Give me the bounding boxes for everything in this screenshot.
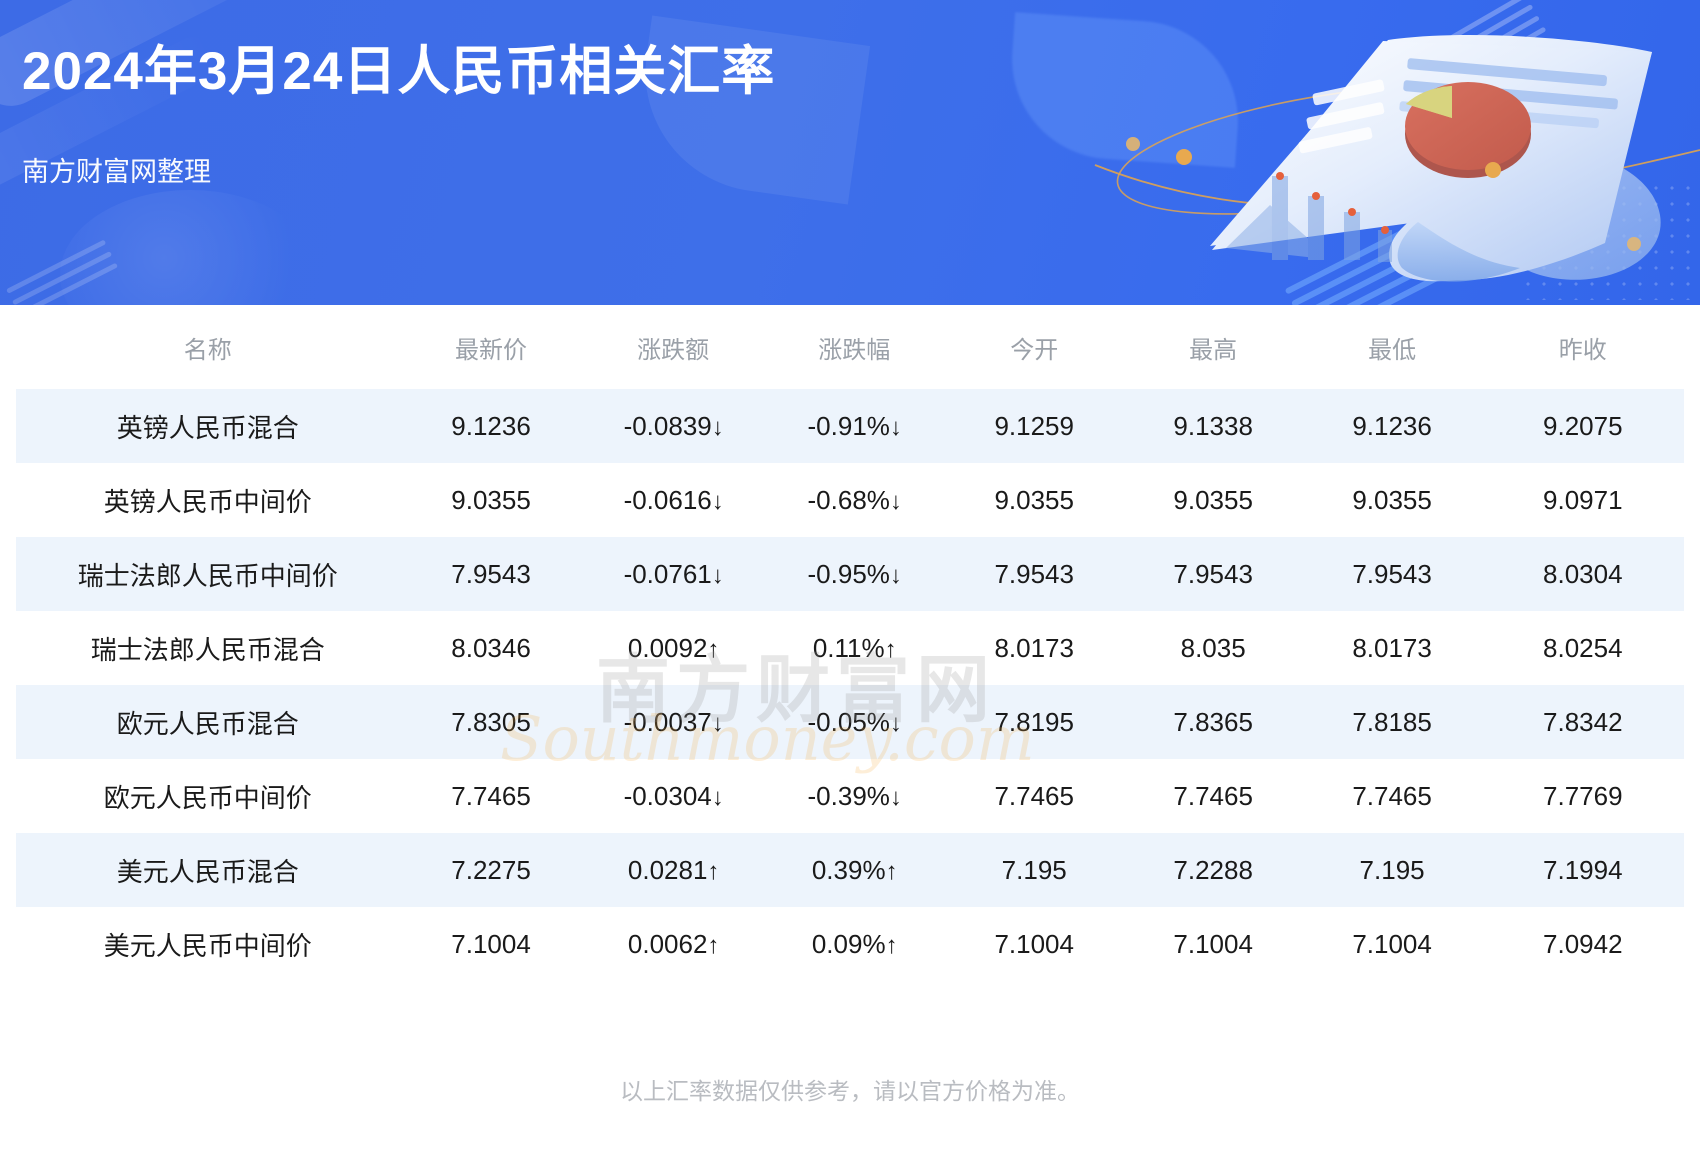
cell-change-percent: 0.09%↑	[764, 907, 945, 981]
cell-prev-close: 7.1994	[1482, 833, 1684, 907]
column-header-change[interactable]: 涨跌额	[583, 305, 764, 389]
cell-name: 美元人民币中间价	[16, 907, 399, 981]
cell-name: 瑞士法郎人民币中间价	[16, 537, 399, 611]
cell-high: 9.0355	[1124, 463, 1303, 537]
cell-high: 7.9543	[1124, 537, 1303, 611]
arrow-down-icon: ↓	[712, 488, 723, 515]
cell-open: 9.1259	[945, 389, 1124, 463]
column-header-prev-close[interactable]: 昨收	[1482, 305, 1684, 389]
page-subtitle: 南方财富网整理	[22, 150, 211, 189]
cell-open: 7.8195	[945, 685, 1124, 759]
cell-change: -0.0616↓	[583, 463, 764, 537]
cell-name: 英镑人民币混合	[16, 389, 399, 463]
table-header-row: 名称 最新价 涨跌额 涨跌幅 今开 最高 最低 昨收	[16, 305, 1684, 389]
cell-low: 7.7465	[1303, 759, 1482, 833]
cell-change: -0.0761↓	[583, 537, 764, 611]
cell-last-price: 8.0346	[399, 611, 582, 685]
table-row[interactable]: 瑞士法郎人民币中间价7.9543-0.0761↓-0.95%↓7.95437.9…	[16, 537, 1684, 611]
cell-change: 0.0092↑	[583, 611, 764, 685]
arrow-down-icon: ↓	[712, 562, 723, 589]
column-header-last-price[interactable]: 最新价	[399, 305, 582, 389]
cell-prev-close: 9.0971	[1482, 463, 1684, 537]
cell-high: 8.035	[1124, 611, 1303, 685]
cell-change-percent: -0.91%↓	[764, 389, 945, 463]
cell-change: 0.0281↑	[583, 833, 764, 907]
table-row[interactable]: 英镑人民币中间价9.0355-0.0616↓-0.68%↓9.03559.035…	[16, 463, 1684, 537]
cell-low: 7.9543	[1303, 537, 1482, 611]
cell-low: 7.1004	[1303, 907, 1482, 981]
exchange-rate-table-wrapper: 名称 最新价 涨跌额 涨跌幅 今开 最高 最低 昨收 英镑人民币混合9.1236…	[0, 305, 1700, 981]
cell-high: 7.2288	[1124, 833, 1303, 907]
report-document-chart-illustration	[1000, 0, 1700, 305]
cell-last-price: 7.2275	[399, 833, 582, 907]
cell-last-price: 7.7465	[399, 759, 582, 833]
cell-last-price: 9.1236	[399, 389, 582, 463]
column-header-open[interactable]: 今开	[945, 305, 1124, 389]
arrow-down-icon: ↓	[890, 784, 901, 811]
page-title: 2024年3月24日人民币相关汇率	[22, 42, 775, 103]
arrow-up-icon: ↑	[886, 858, 897, 885]
decorative-circle-left	[60, 190, 320, 305]
cell-change-percent: -0.39%↓	[764, 759, 945, 833]
cell-name: 欧元人民币混合	[16, 685, 399, 759]
cell-change: -0.0839↓	[583, 389, 764, 463]
arrow-up-icon: ↑	[707, 636, 718, 663]
cell-prev-close: 8.0304	[1482, 537, 1684, 611]
cell-change: -0.0304↓	[583, 759, 764, 833]
cell-open: 9.0355	[945, 463, 1124, 537]
cell-name: 欧元人民币中间价	[16, 759, 399, 833]
arrow-down-icon: ↓	[890, 562, 901, 589]
column-header-name[interactable]: 名称	[16, 305, 399, 389]
cell-change: -0.0037↓	[583, 685, 764, 759]
arrow-down-icon: ↓	[712, 784, 723, 811]
table-row[interactable]: 欧元人民币中间价7.7465-0.0304↓-0.39%↓7.74657.746…	[16, 759, 1684, 833]
arrow-up-icon: ↑	[707, 858, 718, 885]
arrow-down-icon: ↓	[712, 710, 723, 737]
cell-last-price: 7.1004	[399, 907, 582, 981]
cell-high: 9.1338	[1124, 389, 1303, 463]
cell-name: 英镑人民币中间价	[16, 463, 399, 537]
column-header-low[interactable]: 最低	[1303, 305, 1482, 389]
cell-open: 7.1004	[945, 907, 1124, 981]
table-row[interactable]: 英镑人民币混合9.1236-0.0839↓-0.91%↓9.12599.1338…	[16, 389, 1684, 463]
table-row[interactable]: 美元人民币混合7.22750.0281↑0.39%↑7.1957.22887.1…	[16, 833, 1684, 907]
table-row[interactable]: 瑞士法郎人民币混合8.03460.0092↑0.11%↑8.01738.0358…	[16, 611, 1684, 685]
cell-low: 7.8185	[1303, 685, 1482, 759]
table-row[interactable]: 美元人民币中间价7.10040.0062↑0.09%↑7.10047.10047…	[16, 907, 1684, 981]
cell-low: 9.0355	[1303, 463, 1482, 537]
cell-low: 7.195	[1303, 833, 1482, 907]
decorative-lines-bottom-left	[6, 239, 124, 305]
cell-prev-close: 7.8342	[1482, 685, 1684, 759]
exchange-rate-infographic: 2024年3月24日人民币相关汇率 南方财富网整理	[0, 0, 1700, 1150]
arrow-down-icon: ↓	[890, 710, 901, 737]
arrow-up-icon: ↑	[885, 636, 896, 663]
cell-change-percent: -0.68%↓	[764, 463, 945, 537]
cell-open: 7.7465	[945, 759, 1124, 833]
cell-open: 7.9543	[945, 537, 1124, 611]
arrow-up-icon: ↑	[707, 932, 718, 959]
exchange-rate-table: 名称 最新价 涨跌额 涨跌幅 今开 最高 最低 昨收 英镑人民币混合9.1236…	[16, 305, 1684, 981]
disclaimer-note: 以上汇率数据仅供参考，请以官方价格为准。	[0, 1072, 1700, 1106]
exchange-rate-table-body: 英镑人民币混合9.1236-0.0839↓-0.91%↓9.12599.1338…	[16, 389, 1684, 981]
cell-low: 9.1236	[1303, 389, 1482, 463]
table-row[interactable]: 欧元人民币混合7.8305-0.0037↓-0.05%↓7.81957.8365…	[16, 685, 1684, 759]
cell-open: 7.195	[945, 833, 1124, 907]
cell-low: 8.0173	[1303, 611, 1482, 685]
cell-prev-close: 7.7769	[1482, 759, 1684, 833]
cell-name: 美元人民币混合	[16, 833, 399, 907]
cell-prev-close: 8.0254	[1482, 611, 1684, 685]
cell-change-percent: -0.05%↓	[764, 685, 945, 759]
cell-change-percent: 0.39%↑	[764, 833, 945, 907]
cell-change-percent: 0.11%↑	[764, 611, 945, 685]
cell-change: 0.0062↑	[583, 907, 764, 981]
cell-last-price: 7.9543	[399, 537, 582, 611]
arrow-down-icon: ↓	[890, 488, 901, 515]
header-banner: 2024年3月24日人民币相关汇率 南方财富网整理	[0, 0, 1700, 305]
arrow-down-icon: ↓	[712, 414, 723, 441]
cell-high: 7.1004	[1124, 907, 1303, 981]
cell-change-percent: -0.95%↓	[764, 537, 945, 611]
cell-last-price: 7.8305	[399, 685, 582, 759]
cell-high: 7.7465	[1124, 759, 1303, 833]
column-header-change-pct[interactable]: 涨跌幅	[764, 305, 945, 389]
column-header-high[interactable]: 最高	[1124, 305, 1303, 389]
cell-prev-close: 7.0942	[1482, 907, 1684, 981]
cell-name: 瑞士法郎人民币混合	[16, 611, 399, 685]
cell-last-price: 9.0355	[399, 463, 582, 537]
arrow-up-icon: ↑	[886, 932, 897, 959]
cell-prev-close: 9.2075	[1482, 389, 1684, 463]
cell-open: 8.0173	[945, 611, 1124, 685]
cell-high: 7.8365	[1124, 685, 1303, 759]
arrow-down-icon: ↓	[890, 414, 901, 441]
